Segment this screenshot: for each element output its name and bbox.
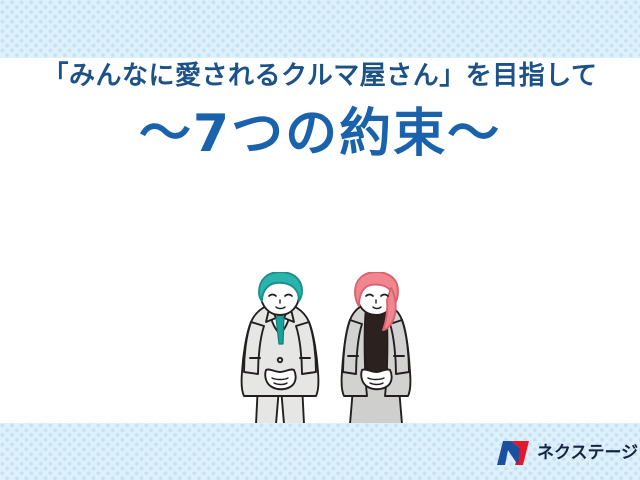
promo-slide: 「みんなに愛されるクルマ屋さん」を目指して 〜7つの約束〜 <box>0 0 640 480</box>
nextage-n-logo-icon <box>496 440 530 466</box>
nextage-logo-text: ネクステージ <box>537 445 638 462</box>
nextage-logo: ネクステージ <box>496 437 638 469</box>
female-staff-figure <box>342 272 411 424</box>
headline-line-1: 「みんなに愛されるクルマ屋さん」を目指して <box>0 62 640 91</box>
male-staff-figure <box>242 272 319 424</box>
headline-line-2: 〜7つの約束〜 <box>0 107 640 162</box>
two-staff-bowing-illustration <box>236 272 426 424</box>
headline-block: 「みんなに愛されるクルマ屋さん」を目指して 〜7つの約束〜 <box>0 62 640 161</box>
top-dotted-band <box>0 0 640 58</box>
